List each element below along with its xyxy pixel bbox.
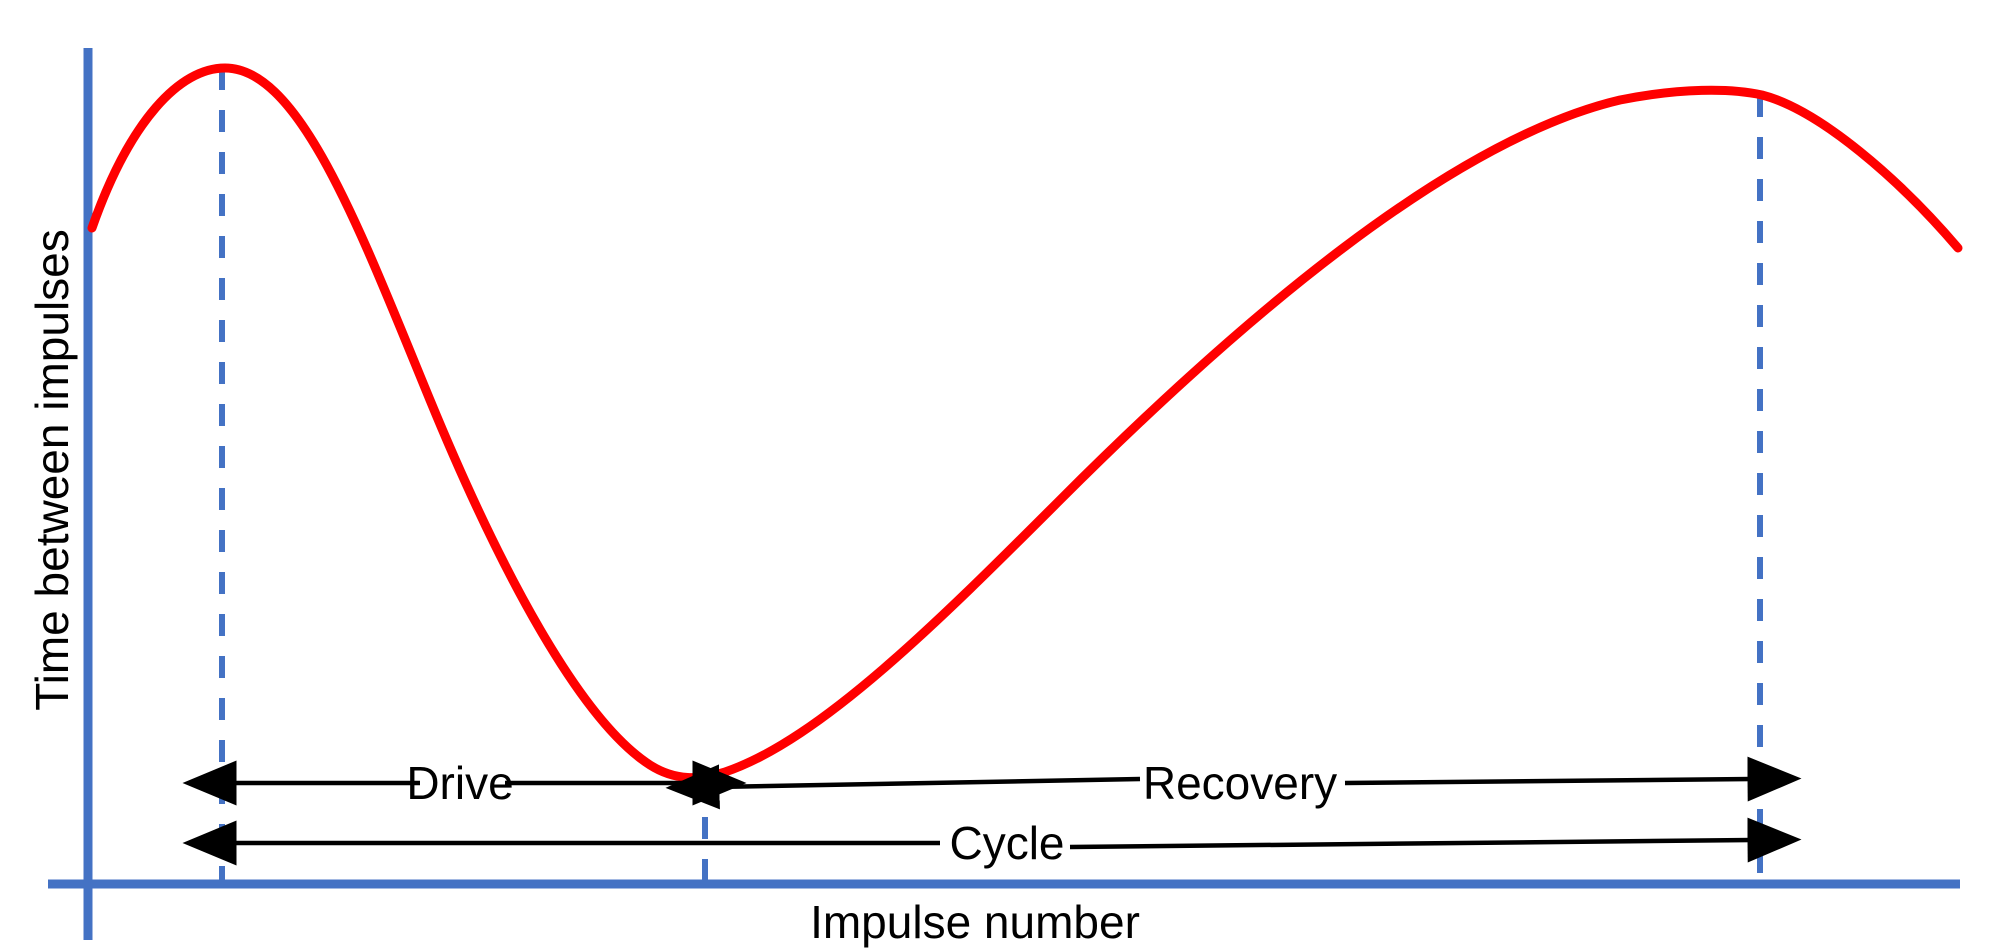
impulse-cycle-diagram: Drive Recovery Cycle Time between impuls… xyxy=(0,0,2000,948)
plot-background xyxy=(0,0,2000,948)
drive-label: Drive xyxy=(406,757,513,809)
recovery-label: Recovery xyxy=(1143,757,1337,809)
figure-canvas: Drive Recovery Cycle Time between impuls… xyxy=(0,0,2000,948)
y-axis-title: Time between impulses xyxy=(26,229,78,711)
cycle-label: Cycle xyxy=(949,817,1064,869)
x-axis-title: Impulse number xyxy=(810,896,1140,948)
